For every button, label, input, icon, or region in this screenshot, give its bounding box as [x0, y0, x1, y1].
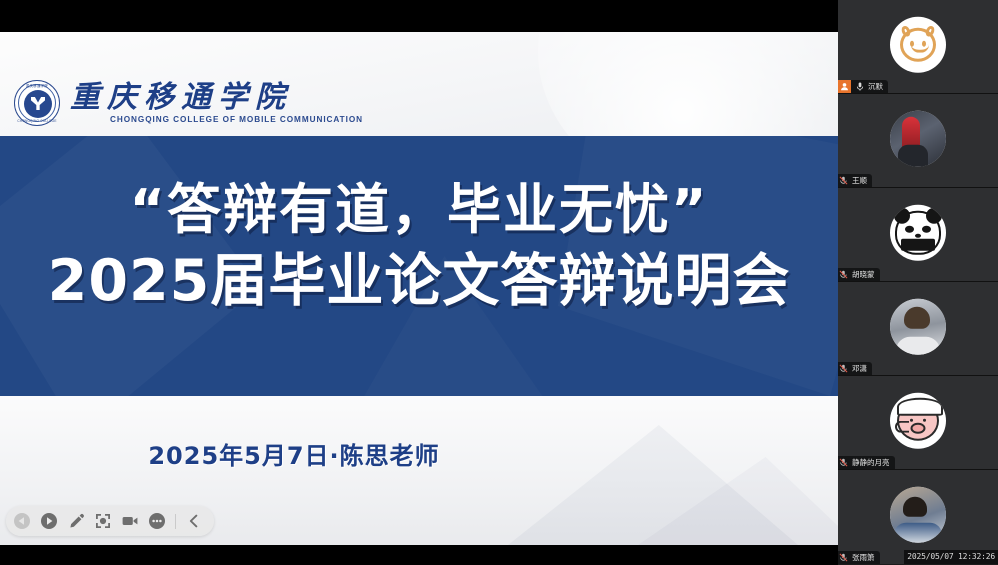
recording-timestamp: 2025/05/07 12:32:26 [904, 550, 998, 564]
participant-nameplate: 张雨箫 [838, 551, 880, 564]
shared-screen-area[interactable]: 重庆移通学院 CHONGQING COLLEGE 重庆移通学院 CHONGQIN… [0, 0, 838, 565]
participant-tile[interactable]: 邓潇 [838, 282, 998, 376]
previous-slide-button[interactable] [10, 509, 34, 533]
ellipsis-icon [148, 512, 166, 530]
pig-cartoon-avatar [890, 392, 946, 448]
participant-nameplate: 邓潇 [838, 362, 872, 375]
more-options-button[interactable] [145, 509, 169, 533]
mic-muted-icon [838, 174, 849, 187]
seal-top-text: 重庆移通学院 [15, 83, 59, 88]
mic-icon [854, 80, 865, 93]
seal-bottom-text: CHONGQING COLLEGE [15, 119, 59, 123]
participant-name: 王顺 [852, 174, 867, 187]
participant-tile[interactable]: 沉默 [838, 0, 998, 94]
pencil-icon [67, 512, 85, 530]
participant-name: 张雨箫 [852, 551, 875, 564]
collapse-toolbar-button[interactable] [182, 509, 206, 533]
participant-tile[interactable]: 静静的月亮 [838, 376, 998, 470]
participant-name: 胡晓蒙 [852, 268, 875, 281]
toolbar-divider [175, 514, 176, 529]
video-camera-icon [121, 512, 139, 530]
slide-subtitle: 2025年5月7日·陈思老师 [0, 436, 838, 471]
slide-title-secondary: 2025届毕业论文答辩说明会 [0, 252, 838, 311]
participant-name: 邓潇 [852, 362, 867, 375]
chevron-left-icon [186, 513, 202, 529]
smiley-doodle-avatar [890, 16, 946, 72]
panda-cartoon-avatar [890, 204, 946, 260]
photo-red-jacket-avatar [890, 110, 946, 166]
university-seal-icon: 重庆移通学院 CHONGQING COLLEGE [14, 80, 60, 126]
share-control-toolbar[interactable] [6, 506, 214, 536]
slide-header-band: 重庆移通学院 CHONGQING COLLEGE 重庆移通学院 CHONGQIN… [0, 32, 838, 136]
slide-title-band: “答辩有道，毕业无忧” 2025届毕业论文答辩说明会 [0, 136, 838, 396]
participant-name: 沉默 [868, 80, 883, 93]
participant-tile[interactable]: 王顺 [838, 94, 998, 188]
university-name-cn: 重庆移通学院 [70, 82, 323, 114]
record-button[interactable] [118, 509, 142, 533]
university-logo-lockup: 重庆移通学院 CHONGQING COLLEGE 重庆移通学院 CHONGQIN… [14, 80, 323, 126]
mic-muted-icon [838, 551, 849, 564]
participant-nameplate: 沉默 [838, 80, 888, 93]
focus-capture-button[interactable] [91, 509, 115, 533]
participant-tile[interactable]: 胡晓蒙 [838, 188, 998, 282]
university-name-en: CHONGQING COLLEGE OF MOBILE COMMUNICATIO… [110, 115, 363, 124]
participant-name: 静静的月亮 [852, 456, 890, 469]
mic-muted-icon [838, 362, 849, 375]
photo-sleeping-avatar [890, 298, 946, 354]
participant-video-rail[interactable]: 沉默 王顺 胡晓蒙 [838, 0, 998, 565]
play-slide-button[interactable] [37, 509, 61, 533]
mic-muted-icon [838, 456, 849, 469]
annotate-button[interactable] [64, 509, 88, 533]
focus-frame-icon [94, 512, 112, 530]
slide-title-primary: “答辩有道，毕业无忧” [0, 182, 838, 238]
participant-tile[interactable]: 张雨箫 2025/05/07 12:32:26 [838, 470, 998, 564]
participant-nameplate: 胡晓蒙 [838, 268, 880, 281]
presentation-slide[interactable]: 重庆移通学院 CHONGQING COLLEGE 重庆移通学院 CHONGQIN… [0, 32, 838, 545]
play-triangle-icon [40, 512, 58, 530]
participant-nameplate: 静静的月亮 [838, 456, 895, 469]
prev-triangle-icon [13, 512, 31, 530]
host-badge-icon [838, 80, 851, 93]
mic-muted-icon [838, 268, 849, 281]
meeting-screen-share-window: 重庆移通学院 CHONGQING COLLEGE 重庆移通学院 CHONGQIN… [0, 0, 998, 565]
participant-nameplate: 王顺 [838, 174, 872, 187]
photo-blue-shirt-avatar [890, 487, 946, 543]
university-name-block: 重庆移通学院 CHONGQING COLLEGE OF MOBILE COMMU… [70, 82, 323, 124]
